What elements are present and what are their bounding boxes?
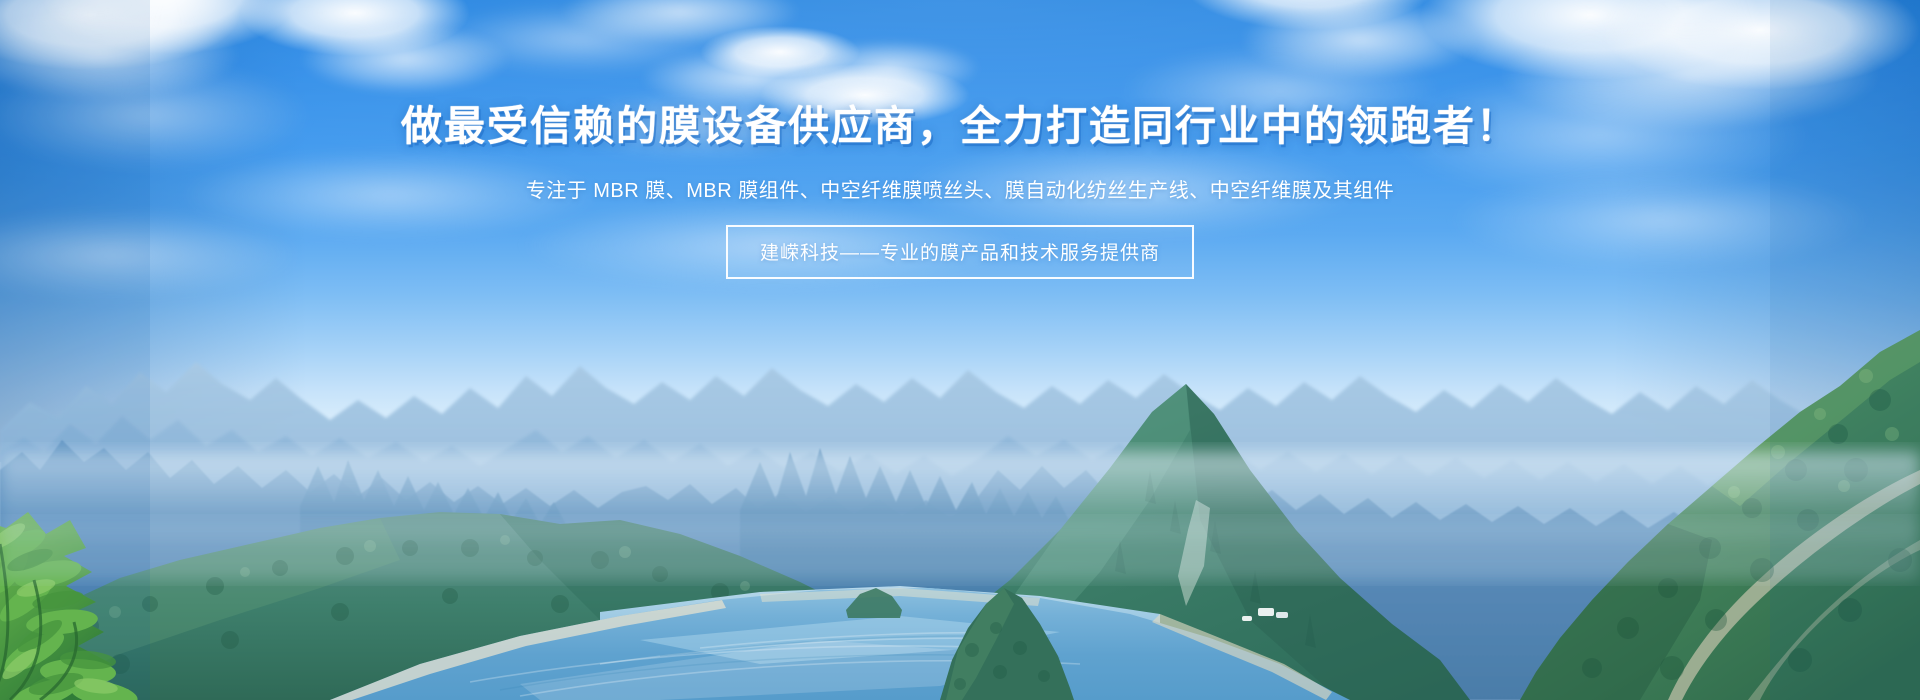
banner-tagline-box: 建嵘科技——专业的膜产品和技术服务提供商 <box>726 225 1194 279</box>
banner-headline: 做最受信赖的膜设备供应商，全力打造同行业中的领跑者！ <box>0 104 1920 148</box>
banner-tagline-wrapper: 建嵘科技——专业的膜产品和技术服务提供商 <box>0 225 1920 279</box>
atmospheric-haze-2 <box>0 520 1920 580</box>
hero-banner: 做最受信赖的膜设备供应商，全力打造同行业中的领跑者！ 专注于 MBR 膜、MBR… <box>0 0 1920 700</box>
banner-copy: 做最受信赖的膜设备供应商，全力打造同行业中的领跑者！ 专注于 MBR 膜、MBR… <box>0 0 1920 279</box>
banner-subheadline: 专注于 MBR 膜、MBR 膜组件、中空纤维膜喷丝头、膜自动化纺丝生产线、中空纤… <box>0 174 1920 203</box>
